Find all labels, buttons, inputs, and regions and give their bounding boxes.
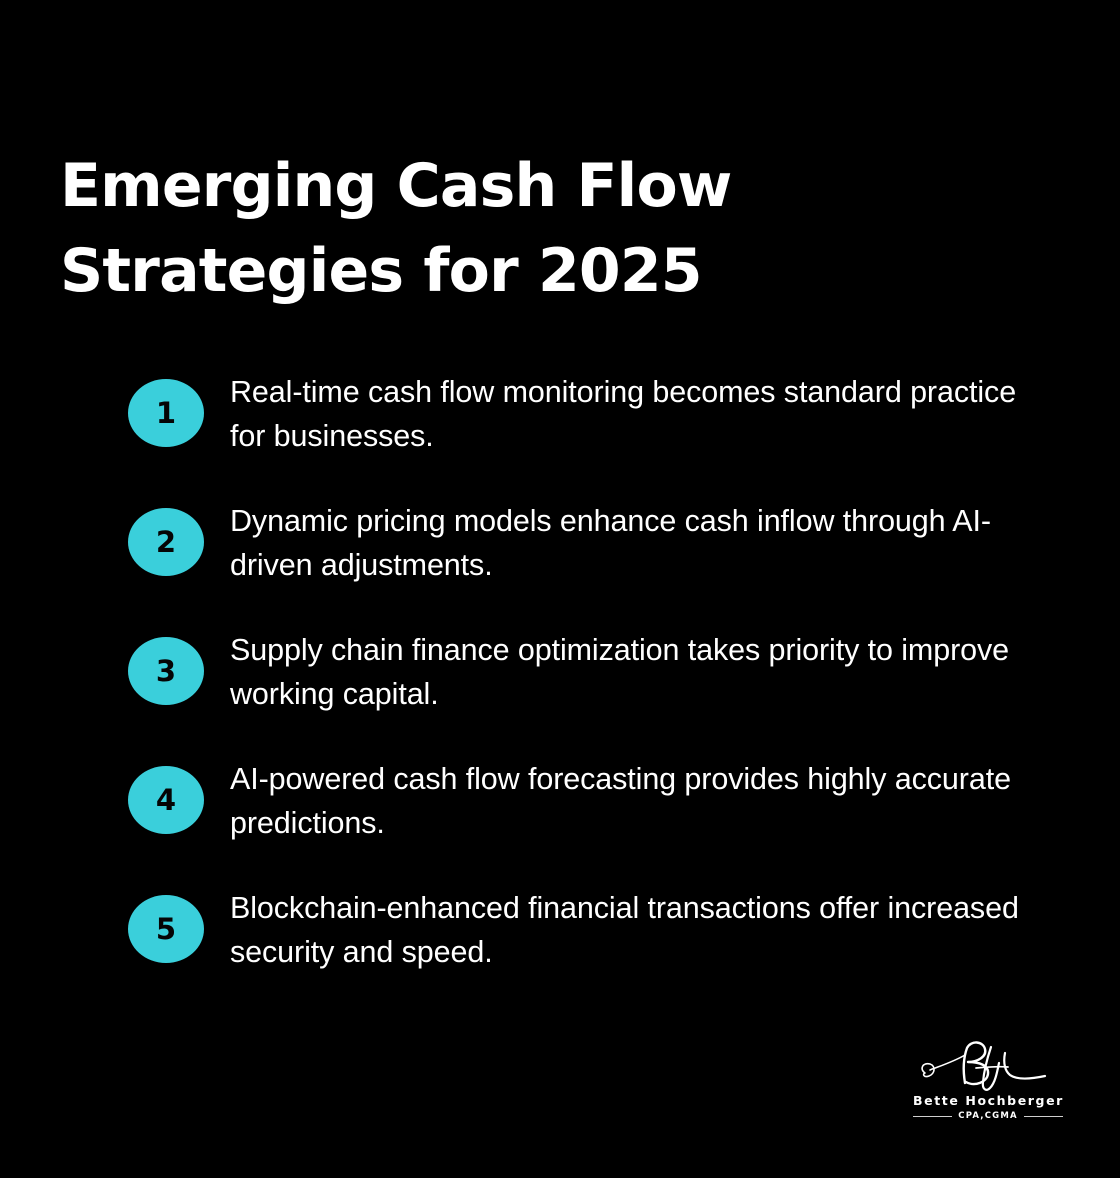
list-number-badge: 3	[128, 637, 204, 705]
list-number-label: 1	[156, 396, 176, 430]
list-number-label: 4	[156, 783, 176, 817]
list-number-label: 3	[156, 654, 176, 688]
list-item: 2 Dynamic pricing models enhance cash in…	[128, 499, 1048, 587]
list-item: 1 Real-time cash flow monitoring becomes…	[128, 370, 1048, 458]
list-item: 5 Blockchain-enhanced financial transact…	[128, 886, 1048, 974]
list-item: 3 Supply chain finance optimization take…	[128, 628, 1048, 716]
divider-right	[1024, 1116, 1063, 1117]
list-number-badge: 4	[128, 766, 204, 834]
list-item: 4 AI-powered cash flow forecasting provi…	[128, 757, 1048, 845]
brand-credentials: CPA,CGMA	[958, 1111, 1018, 1121]
page-title: Emerging Cash Flow Strategies for 2025	[60, 144, 1050, 314]
list-item-text: Dynamic pricing models enhance cash infl…	[230, 499, 1048, 587]
divider-left	[913, 1116, 952, 1117]
list-number-badge: 5	[128, 895, 204, 963]
list-item-text: Supply chain finance optimization takes …	[230, 628, 1048, 716]
list-number-label: 5	[156, 912, 176, 946]
list-number-badge: 2	[128, 508, 204, 576]
list-item-text: Real-time cash flow monitoring becomes s…	[230, 370, 1048, 458]
bh-monogram-icon	[913, 1037, 1063, 1095]
numbered-list: 1 Real-time cash flow monitoring becomes…	[128, 370, 1048, 974]
list-number-label: 2	[156, 525, 176, 559]
brand-credentials-row: CPA,CGMA	[913, 1111, 1063, 1121]
list-number-badge: 1	[128, 379, 204, 447]
brand-logo: Bette Hochberger CPA,CGMA	[913, 1037, 1063, 1121]
list-item-text: Blockchain-enhanced financial transactio…	[230, 886, 1048, 974]
list-item-text: AI-powered cash flow forecasting provide…	[230, 757, 1048, 845]
brand-name: Bette Hochberger	[913, 1093, 1063, 1108]
slide-canvas: Emerging Cash Flow Strategies for 2025 1…	[0, 0, 1120, 1178]
